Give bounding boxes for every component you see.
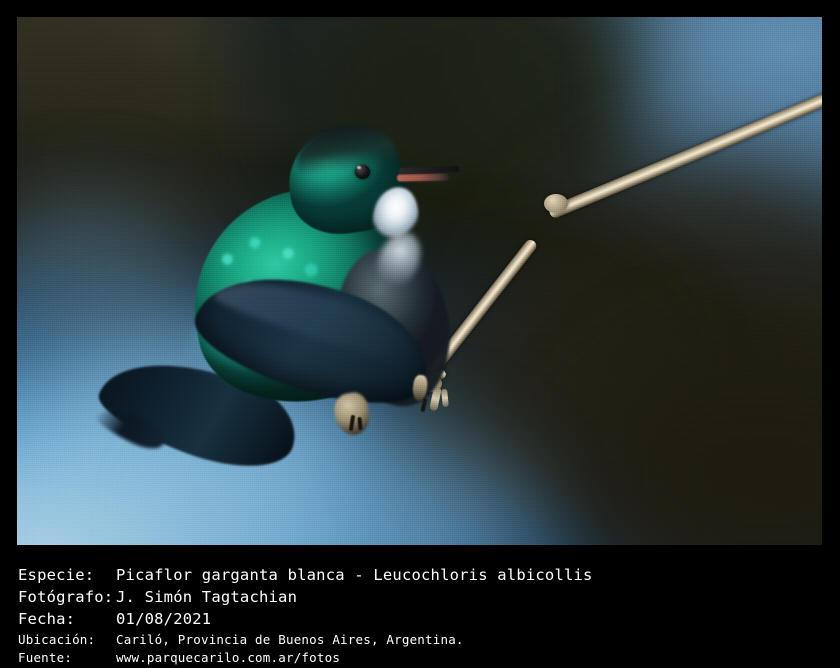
caption-value-ubicacion: Cariló, Provincia de Buenos Aires, Argen… [116, 632, 464, 647]
caption-value-fecha: 01/08/2021 [116, 610, 211, 628]
caption-label-ubicacion: Ubicación: [18, 632, 116, 647]
caption-row-fuente: Fuente: www.parquecarilo.com.ar/fotos [18, 650, 340, 665]
caption-label-fecha: Fecha: [18, 610, 116, 628]
caption-row-fecha: Fecha: 01/08/2021 [18, 610, 211, 628]
photo-info-card: Especie: Picaflor garganta blanca - Leuc… [0, 0, 840, 668]
caption-value-fotografo: J. Simón Tagtachian [116, 588, 297, 606]
photograph [17, 17, 822, 545]
caption-label-especie: Especie: [18, 566, 116, 584]
caption-label-fuente: Fuente: [18, 650, 116, 665]
caption-row-fotografo: Fotógrafo: J. Simón Tagtachian [18, 588, 297, 606]
caption-label-fotografo: Fotógrafo: [18, 588, 116, 606]
caption-block: Especie: Picaflor garganta blanca - Leuc… [0, 552, 840, 668]
caption-row-especie: Especie: Picaflor garganta blanca - Leuc… [18, 566, 593, 584]
caption-value-fuente: www.parquecarilo.com.ar/fotos [116, 650, 340, 665]
caption-row-ubicacion: Ubicación: Cariló, Provincia de Buenos A… [18, 632, 464, 647]
caption-value-especie: Picaflor garganta blanca - Leucochloris … [116, 566, 593, 584]
photo-stage [17, 17, 822, 545]
photo-film-grain [17, 17, 822, 545]
